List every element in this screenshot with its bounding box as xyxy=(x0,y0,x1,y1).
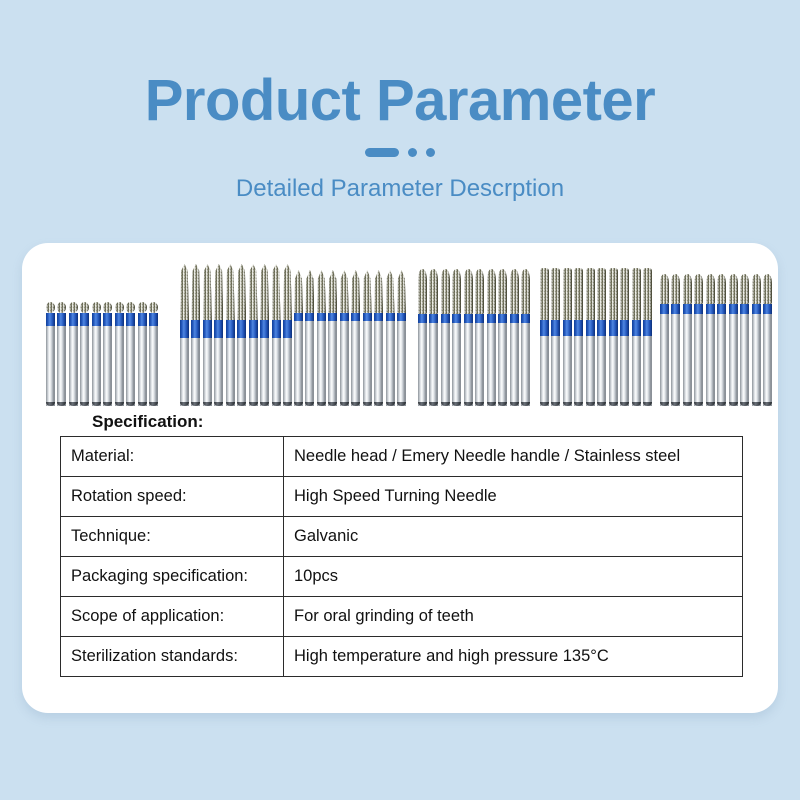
bur-item xyxy=(671,274,680,406)
bur-item xyxy=(374,270,383,406)
spec-key: Rotation speed: xyxy=(61,477,284,517)
bur-shank xyxy=(475,323,484,406)
bur-item xyxy=(138,302,147,406)
bur-shank xyxy=(374,321,383,406)
bur-blue-band xyxy=(149,313,158,326)
bur-shank xyxy=(452,323,461,406)
bur-head xyxy=(694,274,703,304)
bur-blue-band xyxy=(717,304,726,314)
bur-blue-band xyxy=(763,304,772,314)
bur-shank xyxy=(717,314,726,406)
bur-shank xyxy=(69,326,78,406)
bur-item xyxy=(92,302,101,406)
spec-key: Material: xyxy=(61,437,284,477)
specification-table: Material:Needle head / Emery Needle hand… xyxy=(60,436,743,677)
bur-blue-band xyxy=(351,313,360,321)
bur-blue-band xyxy=(328,313,337,321)
bur-blue-band xyxy=(283,320,292,338)
bur-item xyxy=(294,270,303,406)
bur-head xyxy=(418,269,427,314)
bur-item xyxy=(563,268,572,406)
bur-blue-band xyxy=(46,313,55,326)
bur-head xyxy=(609,268,618,320)
bur-shank xyxy=(214,338,223,406)
bur-shank xyxy=(305,321,314,406)
bur-shank xyxy=(340,321,349,406)
bur-item xyxy=(103,302,112,406)
bur-shank xyxy=(643,336,652,406)
bur-blue-band xyxy=(643,320,652,336)
bur-blue-band xyxy=(586,320,595,336)
bur-head xyxy=(374,270,383,313)
bur-blue-band xyxy=(115,313,124,326)
bur-head xyxy=(487,269,496,314)
bur-shank xyxy=(191,338,200,406)
spec-key: Scope of application: xyxy=(61,597,284,637)
bur-shank xyxy=(272,338,281,406)
bur-blue-band xyxy=(609,320,618,336)
bur-blue-band xyxy=(694,304,703,314)
divider-dot-icon-1 xyxy=(408,148,417,157)
bur-head xyxy=(660,274,669,304)
bur-item xyxy=(340,270,349,406)
bur-shank xyxy=(510,323,519,406)
bur-item xyxy=(191,264,200,406)
bur-item xyxy=(260,264,269,406)
bur-blue-band xyxy=(706,304,715,314)
bur-head xyxy=(57,302,66,313)
bur-shank xyxy=(283,338,292,406)
bur-item xyxy=(597,268,606,406)
bur-shank xyxy=(92,326,101,406)
bur-head xyxy=(203,264,212,320)
bur-blue-band xyxy=(103,313,112,326)
bur-blue-band xyxy=(620,320,629,336)
bur-item xyxy=(763,274,772,406)
bur-blue-band xyxy=(386,313,395,321)
bur-shank xyxy=(103,326,112,406)
bur-blue-band xyxy=(498,314,507,323)
bur-blue-band xyxy=(317,313,326,321)
bur-item xyxy=(620,268,629,406)
bur-shank xyxy=(683,314,692,406)
bur-head xyxy=(103,302,112,313)
bur-shank xyxy=(397,321,406,406)
bur-head xyxy=(283,264,292,320)
bur-item xyxy=(57,302,66,406)
bur-item xyxy=(706,274,715,406)
bur-item xyxy=(317,270,326,406)
bur-shank xyxy=(386,321,395,406)
bur-item xyxy=(249,264,258,406)
spec-value: High Speed Turning Needle xyxy=(284,477,743,517)
divider-dot-icon-2 xyxy=(426,148,435,157)
bur-blue-band xyxy=(475,314,484,323)
bur-shank xyxy=(351,321,360,406)
bur-head xyxy=(632,268,641,320)
bur-item xyxy=(540,268,549,406)
bur-item xyxy=(351,270,360,406)
bur-group-flame xyxy=(294,270,406,406)
bur-group-roundend xyxy=(418,269,530,406)
bur-group-shortround xyxy=(660,274,772,406)
bur-blue-band xyxy=(69,313,78,326)
bur-blue-band xyxy=(452,314,461,323)
bur-item xyxy=(363,270,372,406)
spec-key: Sterilization standards: xyxy=(61,637,284,677)
bur-head xyxy=(294,270,303,313)
bur-head xyxy=(351,270,360,313)
bur-shank xyxy=(540,336,549,406)
bur-item xyxy=(740,274,749,406)
bur-item xyxy=(46,302,55,406)
bur-item xyxy=(226,264,235,406)
bur-blue-band xyxy=(237,320,246,338)
bur-shank xyxy=(441,323,450,406)
bur-blue-band xyxy=(57,313,66,326)
bur-item xyxy=(397,270,406,406)
bur-shank xyxy=(498,323,507,406)
bur-head xyxy=(328,270,337,313)
bur-shank xyxy=(126,326,135,406)
bur-group-flat xyxy=(540,268,652,406)
bur-blue-band xyxy=(574,320,583,336)
spec-value: High temperature and high pressure 135°C xyxy=(284,637,743,677)
bur-blue-band xyxy=(340,313,349,321)
bur-head xyxy=(551,268,560,320)
bur-blue-band xyxy=(80,313,89,326)
bur-shank xyxy=(487,323,496,406)
bur-head xyxy=(574,268,583,320)
table-row: Packaging specification:10pcs xyxy=(61,557,743,597)
bur-shank xyxy=(138,326,147,406)
bur-item xyxy=(283,264,292,406)
bur-head xyxy=(597,268,606,320)
specification-heading: Specification: xyxy=(92,412,203,432)
bur-blue-band xyxy=(740,304,749,314)
bur-head xyxy=(46,302,55,313)
bur-head xyxy=(763,274,772,304)
bur-head xyxy=(149,302,158,313)
bur-shank xyxy=(418,323,427,406)
bur-blue-band xyxy=(683,304,692,314)
bur-head xyxy=(138,302,147,313)
bur-shank xyxy=(115,326,124,406)
bur-item xyxy=(305,270,314,406)
bur-blue-band xyxy=(363,313,372,321)
bur-shank xyxy=(729,314,738,406)
bur-item xyxy=(180,264,189,406)
page-title: Product Parameter xyxy=(0,72,800,130)
product-gallery xyxy=(32,261,768,406)
bur-item xyxy=(441,269,450,406)
bur-shank xyxy=(317,321,326,406)
bur-head xyxy=(249,264,258,320)
bur-item xyxy=(632,268,641,406)
bur-shank xyxy=(363,321,372,406)
bur-blue-band xyxy=(464,314,473,323)
bur-group-ball xyxy=(46,302,158,406)
bur-item xyxy=(574,268,583,406)
bur-head xyxy=(386,270,395,313)
table-row: Rotation speed:High Speed Turning Needle xyxy=(61,477,743,517)
bur-shank xyxy=(706,314,715,406)
bur-shank xyxy=(464,323,473,406)
page-subtitle: Detailed Parameter Descrption xyxy=(0,176,800,202)
bur-head xyxy=(115,302,124,313)
bur-head xyxy=(317,270,326,313)
spec-value: Needle head / Emery Needle handle / Stai… xyxy=(284,437,743,477)
bur-blue-band xyxy=(374,313,383,321)
bur-item xyxy=(429,269,438,406)
bur-blue-band xyxy=(551,320,560,336)
bur-item xyxy=(510,269,519,406)
bur-head xyxy=(464,269,473,314)
bur-shank xyxy=(260,338,269,406)
bur-blue-band xyxy=(126,313,135,326)
bur-shank xyxy=(180,338,189,406)
bur-shank xyxy=(671,314,680,406)
bur-shank xyxy=(203,338,212,406)
bur-head xyxy=(620,268,629,320)
bur-blue-band xyxy=(510,314,519,323)
bur-shank xyxy=(294,321,303,406)
bur-item xyxy=(464,269,473,406)
bur-blue-band xyxy=(203,320,212,338)
bur-item xyxy=(149,302,158,406)
bur-item xyxy=(551,268,560,406)
bur-item xyxy=(683,274,692,406)
bur-head xyxy=(226,264,235,320)
bur-head xyxy=(498,269,507,314)
bur-blue-band xyxy=(260,320,269,338)
decorative-divider xyxy=(0,145,800,159)
bur-item xyxy=(386,270,395,406)
bur-blue-band xyxy=(540,320,549,336)
bur-head xyxy=(540,268,549,320)
bur-blue-band xyxy=(429,314,438,323)
bur-shank xyxy=(740,314,749,406)
bur-blue-band xyxy=(214,320,223,338)
bur-item xyxy=(586,268,595,406)
bur-head xyxy=(706,274,715,304)
table-row: Technique:Galvanic xyxy=(61,517,743,557)
bur-head xyxy=(237,264,246,320)
bur-head xyxy=(752,274,761,304)
bur-head xyxy=(671,274,680,304)
bur-blue-band xyxy=(272,320,281,338)
bur-shank xyxy=(551,336,560,406)
bur-shank xyxy=(586,336,595,406)
bur-head xyxy=(586,268,595,320)
bur-head xyxy=(272,264,281,320)
bur-item xyxy=(609,268,618,406)
bur-head xyxy=(92,302,101,313)
bur-shank xyxy=(632,336,641,406)
bur-shank xyxy=(328,321,337,406)
bur-blue-band xyxy=(92,313,101,326)
bur-head xyxy=(180,264,189,320)
bur-blue-band xyxy=(521,314,530,323)
bur-blue-band xyxy=(305,313,314,321)
bur-head xyxy=(397,270,406,313)
bur-blue-band xyxy=(249,320,258,338)
bur-item xyxy=(487,269,496,406)
bur-shank xyxy=(80,326,89,406)
bur-head xyxy=(643,268,652,320)
bur-item xyxy=(418,269,427,406)
bur-head xyxy=(126,302,135,313)
bur-head xyxy=(340,270,349,313)
bur-head xyxy=(740,274,749,304)
bur-head xyxy=(80,302,89,313)
bur-item xyxy=(115,302,124,406)
spec-key: Packaging specification: xyxy=(61,557,284,597)
bur-shank xyxy=(226,338,235,406)
bur-head xyxy=(69,302,78,313)
page-header: Product Parameter Detailed Parameter Des… xyxy=(0,0,800,243)
bur-shank xyxy=(149,326,158,406)
spec-value: 10pcs xyxy=(284,557,743,597)
bur-head xyxy=(452,269,461,314)
bur-item xyxy=(237,264,246,406)
bur-shank xyxy=(429,323,438,406)
bur-shank xyxy=(249,338,258,406)
bur-blue-band xyxy=(660,304,669,314)
table-row: Sterilization standards:High temperature… xyxy=(61,637,743,677)
bur-blue-band xyxy=(418,314,427,323)
bur-blue-band xyxy=(294,313,303,321)
bur-shank xyxy=(563,336,572,406)
bur-item xyxy=(328,270,337,406)
bur-head xyxy=(214,264,223,320)
bur-blue-band xyxy=(226,320,235,338)
bur-blue-band xyxy=(487,314,496,323)
table-row: Scope of application:For oral grinding o… xyxy=(61,597,743,637)
bur-item xyxy=(214,264,223,406)
bur-blue-band xyxy=(441,314,450,323)
bur-shank xyxy=(46,326,55,406)
bur-item xyxy=(69,302,78,406)
bur-blue-band xyxy=(671,304,680,314)
bur-item xyxy=(272,264,281,406)
bur-item xyxy=(80,302,89,406)
bur-shank xyxy=(620,336,629,406)
bur-shank xyxy=(609,336,618,406)
content-card: Specification: Material:Needle head / Em… xyxy=(22,243,778,713)
table-row: Material:Needle head / Emery Needle hand… xyxy=(61,437,743,477)
bur-item xyxy=(717,274,726,406)
bur-head xyxy=(305,270,314,313)
bur-blue-band xyxy=(138,313,147,326)
bur-head xyxy=(683,274,692,304)
bur-item xyxy=(729,274,738,406)
bur-head xyxy=(429,269,438,314)
bur-head xyxy=(510,269,519,314)
bur-item xyxy=(126,302,135,406)
bur-item xyxy=(521,269,530,406)
bur-item xyxy=(643,268,652,406)
bur-blue-band xyxy=(191,320,200,338)
bur-shank xyxy=(574,336,583,406)
bur-item xyxy=(498,269,507,406)
bur-blue-band xyxy=(180,320,189,338)
divider-dash-icon xyxy=(365,148,399,157)
bur-shank xyxy=(660,314,669,406)
bur-head xyxy=(363,270,372,313)
bur-shank xyxy=(597,336,606,406)
bur-head xyxy=(191,264,200,320)
bur-blue-band xyxy=(397,313,406,321)
bur-item xyxy=(752,274,761,406)
bur-head xyxy=(563,268,572,320)
bur-shank xyxy=(57,326,66,406)
bur-shank xyxy=(763,314,772,406)
spec-value: For oral grinding of teeth xyxy=(284,597,743,637)
bur-blue-band xyxy=(563,320,572,336)
bur-shank xyxy=(237,338,246,406)
bur-item xyxy=(203,264,212,406)
bur-head xyxy=(717,274,726,304)
bur-item xyxy=(452,269,461,406)
bur-blue-band xyxy=(752,304,761,314)
bur-shank xyxy=(521,323,530,406)
bur-head xyxy=(729,274,738,304)
bur-head xyxy=(475,269,484,314)
bur-blue-band xyxy=(597,320,606,336)
bur-blue-band xyxy=(632,320,641,336)
bur-item xyxy=(475,269,484,406)
spec-key: Technique: xyxy=(61,517,284,557)
bur-group-needle xyxy=(180,264,292,406)
bur-shank xyxy=(694,314,703,406)
bur-shank xyxy=(752,314,761,406)
bur-head xyxy=(441,269,450,314)
bur-blue-band xyxy=(729,304,738,314)
bur-item xyxy=(660,274,669,406)
spec-value: Galvanic xyxy=(284,517,743,557)
bur-head xyxy=(260,264,269,320)
bur-head xyxy=(521,269,530,314)
bur-item xyxy=(694,274,703,406)
